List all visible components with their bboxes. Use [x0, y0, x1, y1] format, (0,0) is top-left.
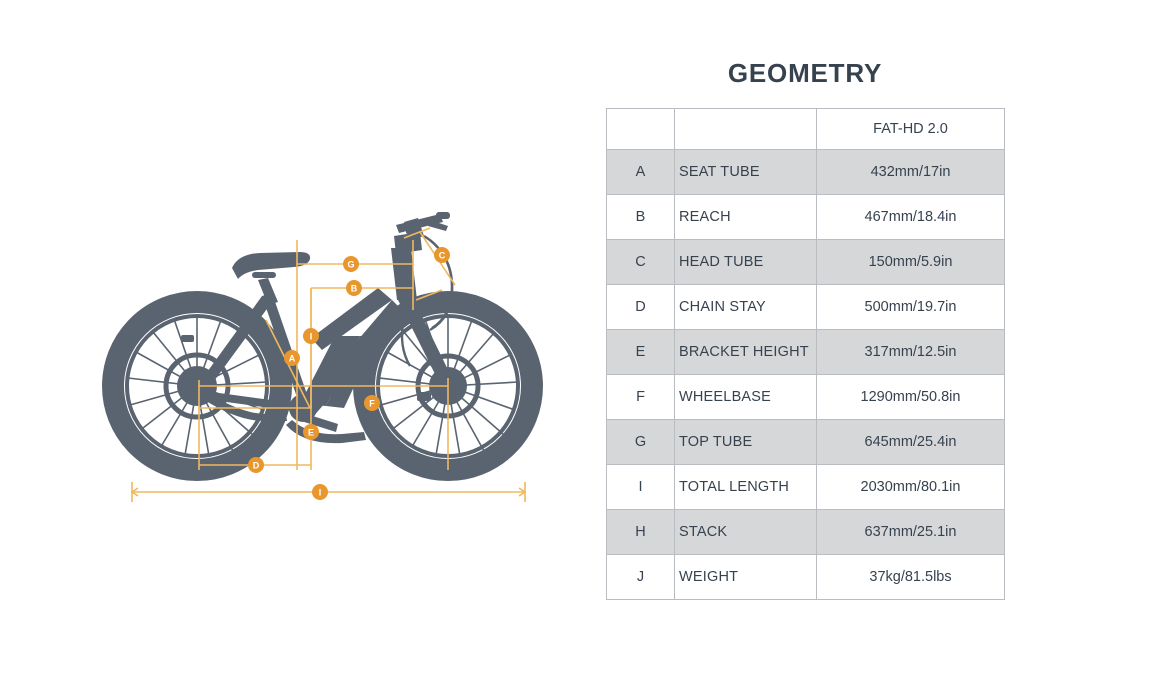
callout-badge-I[interactable]: I [312, 484, 328, 500]
row-name: REACH [675, 195, 817, 240]
table-row: H STACK 637mm/25.1in [607, 510, 1005, 555]
callout-label-A: A [289, 354, 296, 364]
callout-label-I: I [319, 488, 322, 498]
callout-label-D: D [253, 461, 260, 471]
callout-label-H: I [310, 332, 313, 342]
row-letter: G [607, 420, 675, 465]
geometry-table-wrap: FAT-HD 2.0 A SEAT TUBE 432mm/17in B REAC… [606, 108, 1004, 600]
row-name: WHEELBASE [675, 375, 817, 420]
table-row: E BRACKET HEIGHT 317mm/12.5in [607, 330, 1005, 375]
callout-badge-C[interactable]: C [434, 247, 450, 263]
row-name: TOTAL LENGTH [675, 465, 817, 510]
callout-badge-H[interactable]: I [303, 328, 319, 344]
bike-silhouette [113, 212, 532, 470]
row-value: 467mm/18.4in [817, 195, 1005, 240]
callout-label-B: B [351, 284, 358, 294]
row-value: 317mm/12.5in [817, 330, 1005, 375]
page-title: GEOMETRY [600, 58, 1010, 89]
row-name: CHAIN STAY [675, 285, 817, 330]
saddle-and-seatpost [232, 252, 310, 305]
table-header-row: FAT-HD 2.0 [607, 109, 1005, 150]
row-value: 37kg/81.5lbs [817, 555, 1005, 600]
bike-diagram-pane: G B C I A [0, 0, 600, 680]
callout-badge-F[interactable]: F [364, 395, 380, 411]
table-row: B REACH 467mm/18.4in [607, 195, 1005, 240]
row-letter: H [607, 510, 675, 555]
geometry-table-pane: GEOMETRY FAT-HD 2.0 A SEAT TUBE [600, 0, 1168, 680]
header-cell-model: FAT-HD 2.0 [817, 109, 1005, 150]
row-value: 432mm/17in [817, 150, 1005, 195]
table-row: C HEAD TUBE 150mm/5.9in [607, 240, 1005, 285]
callout-badge-E[interactable]: E [303, 424, 319, 440]
row-name: STACK [675, 510, 817, 555]
callout-badge-D[interactable]: D [248, 457, 264, 473]
row-name: SEAT TUBE [675, 150, 817, 195]
callout-label-C: C [439, 251, 446, 261]
header-cell-letter [607, 109, 675, 150]
header-cell-name [675, 109, 817, 150]
row-letter: B [607, 195, 675, 240]
row-letter: F [607, 375, 675, 420]
table-row: J WEIGHT 37kg/81.5lbs [607, 555, 1005, 600]
row-letter: D [607, 285, 675, 330]
row-name: WEIGHT [675, 555, 817, 600]
row-value: 645mm/25.4in [817, 420, 1005, 465]
callout-badge-A[interactable]: A [284, 350, 300, 366]
callout-badge-B[interactable]: B [346, 280, 362, 296]
row-value: 1290mm/50.8in [817, 375, 1005, 420]
table-row: G TOP TUBE 645mm/25.4in [607, 420, 1005, 465]
callout-label-G: G [347, 260, 354, 270]
row-name: TOP TUBE [675, 420, 817, 465]
callout-badge-G[interactable]: G [343, 256, 359, 272]
row-name: HEAD TUBE [675, 240, 817, 285]
row-value: 150mm/5.9in [817, 240, 1005, 285]
row-value: 500mm/19.7in [817, 285, 1005, 330]
row-letter: A [607, 150, 675, 195]
geometry-spec-page: G B C I A [0, 0, 1168, 680]
row-letter: J [607, 555, 675, 600]
bike-geometry-diagram: G B C I A [0, 0, 600, 680]
row-name: BRACKET HEIGHT [675, 330, 817, 375]
row-value: 2030mm/80.1in [817, 465, 1005, 510]
table-row: D CHAIN STAY 500mm/19.7in [607, 285, 1005, 330]
row-value: 637mm/25.1in [817, 510, 1005, 555]
callout-label-E: E [308, 428, 314, 438]
geometry-table: FAT-HD 2.0 A SEAT TUBE 432mm/17in B REAC… [606, 108, 1005, 600]
callout-label-F: F [369, 399, 375, 409]
row-letter: C [607, 240, 675, 285]
row-letter: E [607, 330, 675, 375]
table-row: A SEAT TUBE 432mm/17in [607, 150, 1005, 195]
table-row: F WHEELBASE 1290mm/50.8in [607, 375, 1005, 420]
table-row: I TOTAL LENGTH 2030mm/80.1in [607, 465, 1005, 510]
row-letter: I [607, 465, 675, 510]
